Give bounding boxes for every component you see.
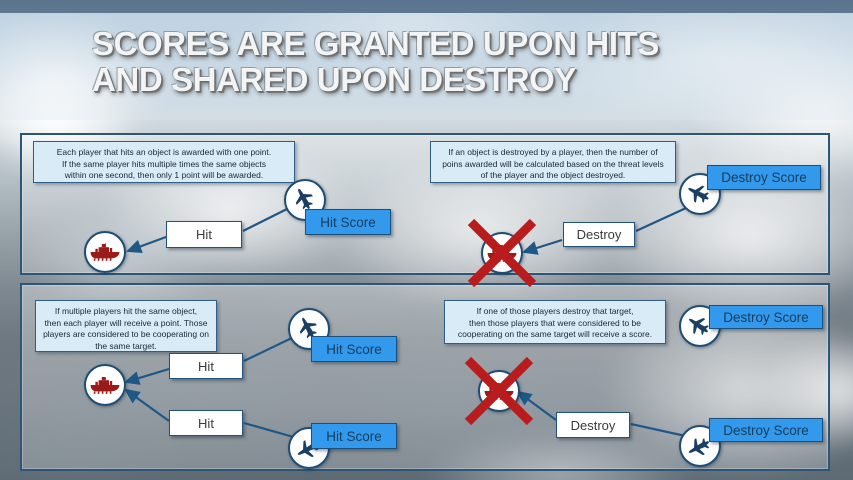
label-hit-bottom[interactable]: Hit [169, 410, 243, 436]
badge-hit-score[interactable]: Hit Score [305, 209, 391, 235]
badge-hit-score-top[interactable]: Hit Score [311, 336, 397, 362]
note-cooperating-rule: If multiple players hit the same object,… [35, 300, 217, 352]
warship-icon [84, 231, 126, 273]
warship-glyph [483, 380, 515, 402]
note-destroy-rule: If an object is destroyed by a player, t… [430, 141, 676, 183]
warship-glyph [89, 241, 121, 263]
label-destroy[interactable]: Destroy [563, 222, 635, 247]
label-destroy[interactable]: Destroy [556, 412, 630, 438]
label-hit-top[interactable]: Hit [169, 353, 243, 379]
warship-icon-destroyed [478, 370, 520, 412]
badge-hit-score-bottom[interactable]: Hit Score [311, 423, 397, 449]
note-hit-rule: Each player that hits an object is award… [33, 141, 295, 183]
page-title: SCORES ARE GRANTED UPON HITS AND SHARED … [92, 26, 812, 98]
note-shared-destroy-rule: If one of those players destroy that tar… [444, 300, 666, 344]
badge-destroy-score-bottom[interactable]: Destroy Score [709, 418, 823, 442]
warship-glyph [89, 374, 121, 396]
slide-canvas: SCORES ARE GRANTED UPON HITS AND SHARED … [0, 0, 853, 480]
warship-glyph [486, 242, 518, 264]
top-accent-strip [0, 0, 853, 13]
badge-destroy-score[interactable]: Destroy Score [707, 165, 821, 190]
warship-icon [84, 364, 126, 406]
label-hit[interactable]: Hit [166, 221, 242, 248]
badge-destroy-score-top[interactable]: Destroy Score [709, 305, 823, 329]
warship-icon-destroyed [481, 232, 523, 274]
